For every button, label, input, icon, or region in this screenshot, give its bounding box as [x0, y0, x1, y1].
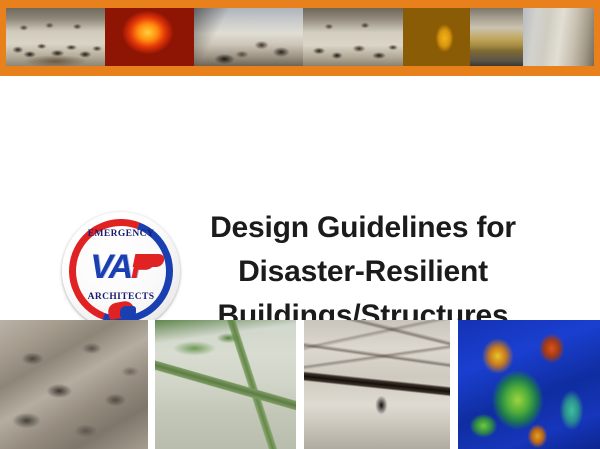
logo-monogram-va: VA [90, 248, 131, 286]
presentation-slide: EMERGENCY VAP ARCHITECTS Design Guidelin… [0, 0, 600, 449]
banner-photo-collapsed-building [194, 8, 303, 66]
banner-photo-fire [105, 8, 194, 66]
logo-hand-accent-icon [120, 306, 136, 318]
title-line-2: Disaster-Resilient [182, 250, 544, 294]
logo-monogram: VAP [62, 248, 180, 286]
bottom-photo-flood-aerial [155, 320, 296, 449]
logo-swoosh-icon [133, 254, 166, 267]
emergency-architects-logo: EMERGENCY VAP ARCHITECTS [62, 212, 180, 330]
logo-top-text: EMERGENCY [62, 229, 180, 239]
bottom-photo-hazard-map [458, 320, 600, 449]
top-banner [0, 0, 600, 76]
banner-photo-urban-rubble [523, 8, 594, 66]
banner-photo-flood-crowd [6, 8, 105, 66]
bottom-photo-earthquake-rubble [0, 320, 148, 449]
banner-photo-flood-crowd-2 [303, 8, 403, 66]
title-area: EMERGENCY VAP ARCHITECTS Design Guidelin… [0, 76, 600, 300]
bottom-photo-ground-fissure [304, 320, 450, 449]
logo-bottom-text: ARCHITECTS [62, 292, 180, 302]
title-line-1: Design Guidelines for [182, 206, 544, 250]
banner-photo-relief-truck [470, 8, 523, 66]
banner-photo-rescue-workers [403, 8, 471, 66]
page-title: Design Guidelines for Disaster-Resilient… [182, 206, 544, 338]
bottom-photo-strip [0, 320, 600, 449]
top-photo-strip [6, 8, 594, 66]
